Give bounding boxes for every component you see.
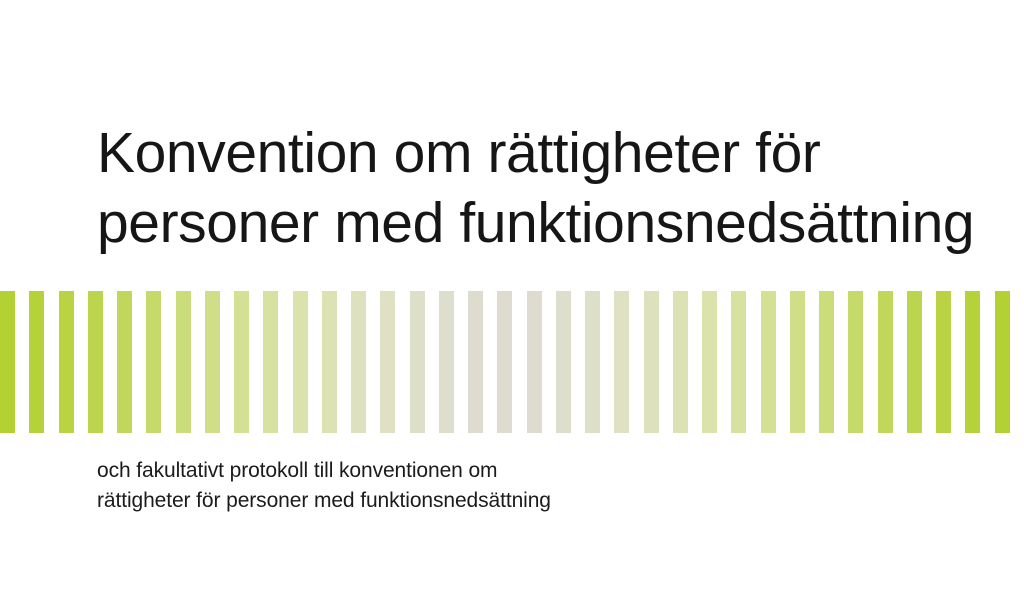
stripe-bar (234, 291, 249, 433)
stripe-bar (936, 291, 951, 433)
stripe-cell (88, 291, 117, 433)
stripe-cell (380, 291, 409, 433)
stripe-cell (673, 291, 702, 433)
stripe-cell (351, 291, 380, 433)
stripe-cell (322, 291, 351, 433)
title-line-1: Konvention om rättigheter för (97, 118, 977, 188)
stripe-cell (29, 291, 58, 433)
stripe-bar (819, 291, 834, 433)
decorative-stripe-band (0, 291, 1024, 433)
stripe-bar (410, 291, 425, 433)
stripe-cell (819, 291, 848, 433)
page-title: Konvention om rättigheter för personer m… (97, 118, 977, 258)
stripe-cell (585, 291, 614, 433)
stripe-cell (234, 291, 263, 433)
stripe-cell (965, 291, 994, 433)
stripe-cell (263, 291, 292, 433)
stripe-cell (527, 291, 556, 433)
stripe-cell (410, 291, 439, 433)
stripe-cell (731, 291, 760, 433)
stripe-cell (468, 291, 497, 433)
stripe-bar (848, 291, 863, 433)
stripe-cell (293, 291, 322, 433)
stripe-bar (790, 291, 805, 433)
stripe-bar (293, 291, 308, 433)
stripe-bar (614, 291, 629, 433)
stripe-cell (878, 291, 907, 433)
page-subtitle: och fakultativt protokoll till konventio… (97, 456, 917, 516)
stripe-cell (176, 291, 205, 433)
stripe-cell (205, 291, 234, 433)
subtitle-line-1: och fakultativt protokoll till konventio… (97, 456, 917, 486)
stripe-bar (322, 291, 337, 433)
stripe-bar (702, 291, 717, 433)
stripe-bar (439, 291, 454, 433)
stripe-cell (0, 291, 29, 433)
stripe-bar (673, 291, 688, 433)
stripe-cell (995, 291, 1024, 433)
stripe-bar (59, 291, 74, 433)
stripe-cell (644, 291, 673, 433)
stripe-cell (702, 291, 731, 433)
stripe-bar (907, 291, 922, 433)
stripe-bar (146, 291, 161, 433)
stripe-cell (117, 291, 146, 433)
cover-page: Konvention om rättigheter för personer m… (0, 0, 1024, 613)
stripe-bar (995, 291, 1010, 433)
stripe-cell (439, 291, 468, 433)
stripe-bar (0, 291, 15, 433)
stripe-bar (644, 291, 659, 433)
stripe-cell (497, 291, 526, 433)
stripe-bar (205, 291, 220, 433)
stripe-bar (556, 291, 571, 433)
stripe-bar (117, 291, 132, 433)
stripe-cell (848, 291, 877, 433)
stripe-bar (761, 291, 776, 433)
stripe-cell (556, 291, 585, 433)
stripe-bar (351, 291, 366, 433)
stripe-bar (468, 291, 483, 433)
stripe-bar (380, 291, 395, 433)
stripe-cell (761, 291, 790, 433)
stripe-cell (907, 291, 936, 433)
stripe-bar (527, 291, 542, 433)
stripe-cell (790, 291, 819, 433)
stripe-bar (878, 291, 893, 433)
title-line-2: personer med funktionsnedsättning (97, 188, 977, 258)
stripe-bar (965, 291, 980, 433)
stripe-cell (59, 291, 88, 433)
stripe-cell (936, 291, 965, 433)
stripe-bar (263, 291, 278, 433)
stripe-bar (176, 291, 191, 433)
stripe-bar (497, 291, 512, 433)
stripe-bar (731, 291, 746, 433)
stripe-bar (29, 291, 44, 433)
stripe-bar (585, 291, 600, 433)
stripe-bar (88, 291, 103, 433)
stripe-cell (614, 291, 643, 433)
stripe-cell (146, 291, 175, 433)
subtitle-line-2: rättigheter för personer med funktionsne… (97, 486, 917, 516)
